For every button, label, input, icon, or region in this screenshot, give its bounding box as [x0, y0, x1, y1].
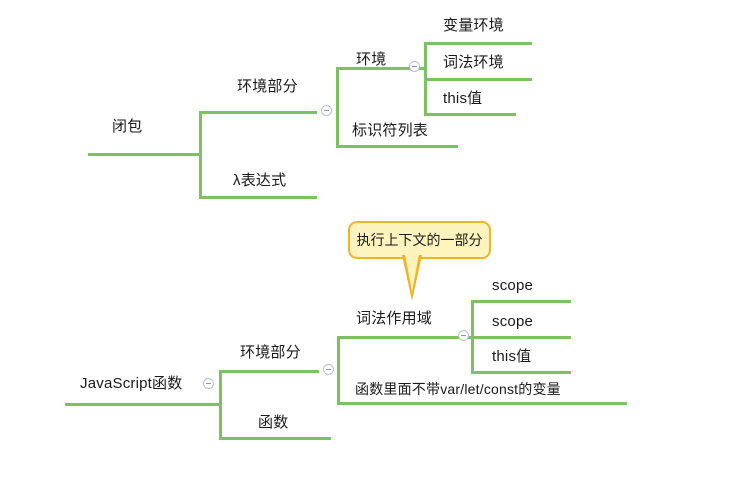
spine-jsfunction-level1: [219, 370, 222, 438]
collapse-toggle-jsfunction-root[interactable]: [203, 378, 214, 389]
branch-line-root-closure: [88, 153, 202, 156]
branch-line-lexical-environment: [424, 78, 532, 81]
branch-line-this-value-top: [424, 113, 516, 116]
branch-line-no-declaration-vars: [337, 402, 627, 405]
branch-line-scope-1: [471, 300, 571, 303]
node-jsfunction-root[interactable]: JavaScript函数: [80, 375, 182, 393]
node-this-value-bottom[interactable]: this值: [492, 348, 531, 366]
node-function[interactable]: 函数: [258, 414, 288, 432]
branch-line-function: [219, 437, 331, 440]
branch-line-variable-environment: [424, 42, 532, 45]
branch-line-env-part: [199, 111, 317, 114]
collapse-toggle-env-part-2[interactable]: [323, 364, 334, 375]
branch-line-lambda: [199, 196, 317, 199]
node-environment[interactable]: 环境: [356, 51, 386, 69]
branch-line-env-part-2: [219, 370, 319, 373]
branch-line-this-value-bottom: [471, 371, 571, 374]
node-scope-1[interactable]: scope: [492, 277, 533, 295]
branch-line-identifier-list: [336, 145, 458, 148]
collapse-toggle-lexical-scope[interactable]: [458, 330, 469, 341]
callout-execution-context[interactable]: 执行上下文的一部分: [348, 221, 491, 259]
node-variable-environment[interactable]: 变量环境: [443, 17, 504, 35]
branch-line-lexical-scope: [337, 336, 473, 339]
node-identifier-list[interactable]: 标识符列表: [352, 122, 428, 140]
node-scope-2[interactable]: scope: [492, 313, 533, 331]
spine-closure-level1: [199, 111, 202, 199]
spine-jsfunction-level2: [337, 336, 340, 403]
node-lexical-scope[interactable]: 词法作用域: [356, 310, 432, 328]
mindmap-canvas: 闭包 环境部分 λ表达式 环境 标识符列表 变量环境 词法环境 this值 执行…: [0, 0, 745, 481]
node-lexical-environment[interactable]: 词法环境: [443, 54, 504, 72]
node-env-part-2[interactable]: 环境部分: [240, 344, 301, 362]
collapse-toggle-env-part[interactable]: [321, 105, 332, 116]
branch-line-root-jsfunction: [65, 403, 220, 406]
branch-line-scope-2: [471, 336, 571, 339]
node-lambda-expression[interactable]: λ表达式: [233, 172, 286, 190]
collapse-toggle-environment[interactable]: [409, 61, 420, 72]
node-env-part[interactable]: 环境部分: [237, 78, 298, 96]
node-no-declaration-vars[interactable]: 函数里面不带var/let/const的变量: [355, 380, 561, 398]
node-closure-root[interactable]: 闭包: [112, 118, 142, 136]
node-this-value-top[interactable]: this值: [443, 90, 482, 108]
spine-closure-level2: [336, 67, 339, 146]
callout-tail-fill: [405, 254, 419, 292]
